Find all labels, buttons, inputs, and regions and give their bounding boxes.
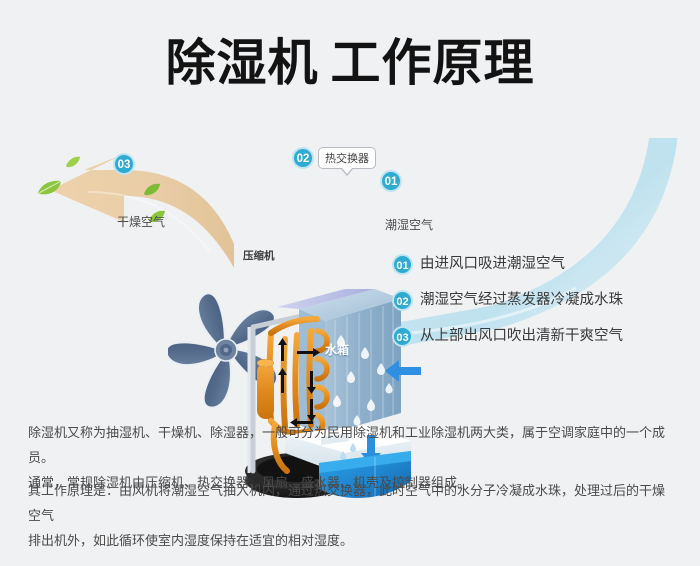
para1-line1: 除湿机又称为抽湿机、干燥机、除湿器，一般可分为民用除湿机和工业除湿机两大类，属于…: [28, 420, 676, 470]
compressor-label: 压缩机: [243, 248, 275, 263]
badge-01-humid-air: 01: [380, 170, 402, 192]
body-paragraph-2: 其工作原理是：由风机将潮湿空气抽入机内，通过热交换器，此时空气中的水分子冷凝成水…: [28, 478, 676, 553]
legend-item-01: 01 由进风口吸进潮湿空气: [392, 252, 682, 288]
leaf-icon: [65, 155, 81, 173]
page-title: 除湿机工作原理: [0, 34, 700, 92]
para2-line2: 排出机外，如此循环使室内湿度保持在适宜的相对湿度。: [28, 528, 676, 553]
leaf-icon: [143, 183, 161, 201]
legend-badge-02: 02: [392, 290, 413, 311]
page-title-part2: 工作原理: [331, 35, 535, 91]
badge-02-heat-exchanger: 02: [292, 147, 314, 169]
page-title-part1: 除湿机: [166, 35, 319, 91]
water-tank-label: 水箱: [325, 341, 349, 358]
heat-exchanger-callout: 热交换器: [318, 147, 376, 169]
legend-item-03: 03 从上部出风口吹出清新干爽空气: [392, 324, 682, 360]
humid-air-label: 潮湿空气: [385, 216, 433, 233]
legend-badge-01: 01: [392, 254, 413, 275]
legend-list: 01 由进风口吸进潮湿空气 02 潮湿空气经过蒸发器冷凝成水珠 03 从上部出风…: [392, 252, 682, 360]
infographic-canvas: 除湿机工作原理: [0, 0, 700, 566]
badge-03-dry-air: 03: [113, 153, 135, 175]
leaf-icon: [36, 180, 62, 201]
dry-air-label: 干燥空气: [117, 213, 165, 230]
legend-badge-03: 03: [392, 326, 413, 347]
legend-text-02: 潮湿空气经过蒸发器冷凝成水珠: [420, 288, 623, 312]
para2-line1: 其工作原理是：由风机将潮湿空气抽入机内，通过热交换器，此时空气中的水分子冷凝成水…: [28, 478, 676, 528]
legend-item-02: 02 潮湿空气经过蒸发器冷凝成水珠: [392, 288, 682, 324]
legend-text-01: 由进风口吸进潮湿空气: [420, 252, 565, 276]
legend-text-03: 从上部出风口吹出清新干爽空气: [420, 324, 623, 348]
